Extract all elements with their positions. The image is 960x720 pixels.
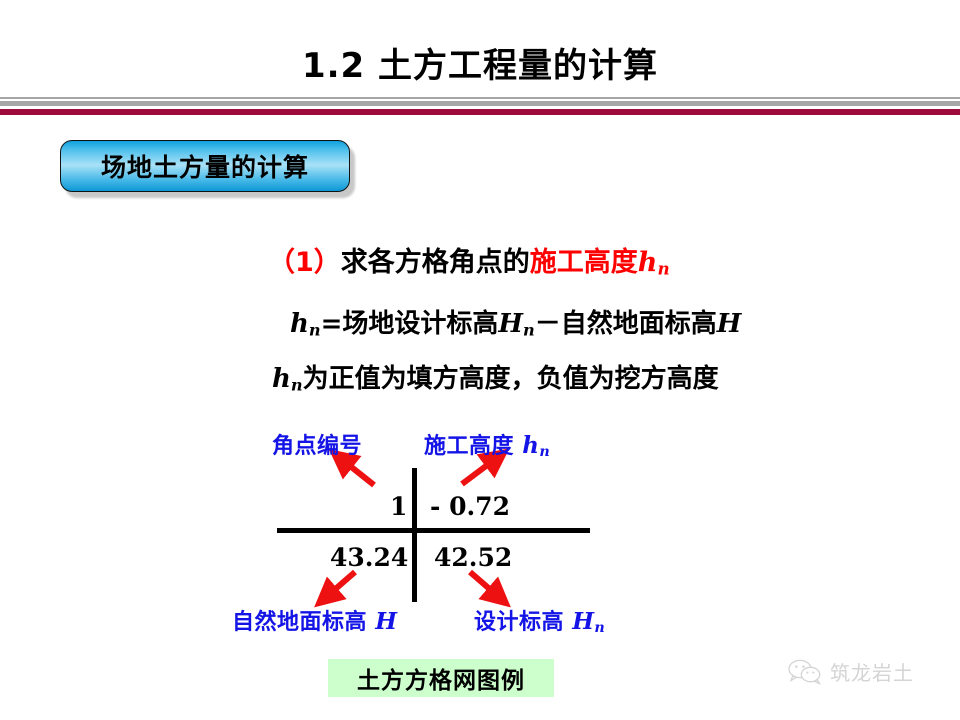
cell-corner-id: 1 [390, 492, 407, 521]
label-corner-number: 角点编号 [272, 428, 362, 460]
line2-var-Hn-sub: n [523, 321, 535, 340]
label-natural-elevation-text: 自然地面标高 [232, 610, 367, 635]
slide-canvas: 1.2 土方工程量的计算 场地土方量的计算 （1）求各方格角点的施工高度hn h… [0, 0, 960, 720]
line3-var-h-sub: n [291, 376, 303, 395]
line1-red-variable: hn [638, 247, 670, 278]
line2-minus-text: －自然地面标高 [535, 309, 717, 339]
label-de-var-base: H [572, 608, 594, 635]
page-title: 1.2 土方工程量的计算 [0, 38, 960, 87]
line2-var-h-base: h [290, 309, 309, 339]
watermark: 筑龙岩土 [788, 657, 914, 686]
grid-cell-vertical-line [412, 468, 417, 602]
line3-var-h: hn [272, 364, 303, 394]
divider-gray-thick [0, 101, 960, 106]
line2-var-H: H [717, 309, 742, 339]
label-de-var-sub: n [594, 620, 605, 636]
label-construction-height: 施工高度 hn [424, 428, 550, 460]
line1-black-text: 求各方格角点的 [341, 247, 530, 278]
cell-design-elevation: 42.52 [434, 543, 512, 572]
label-design-elevation: 设计标高 Hn [474, 604, 605, 636]
cell-construction-height: - 0.72 [430, 492, 510, 521]
line2-var-h: hn [290, 309, 321, 339]
section-chip-body: 场地土方量的计算 [60, 140, 350, 192]
body-line-3: hn为正值为填方高度，负值为挖方高度 [272, 358, 719, 395]
label-natural-elevation: 自然地面标高 H [232, 604, 397, 636]
line3-var-h-base: h [272, 364, 291, 394]
line2-var-h-sub: n [309, 321, 321, 340]
wechat-icon [788, 659, 822, 685]
label-natural-elevation-var: H [375, 608, 397, 635]
figure-caption-chip: 土方方格网图例 [328, 659, 554, 697]
label-design-elevation-text: 设计标高 [474, 610, 564, 635]
divider-gray-thin [0, 97, 960, 99]
divider-crimson [0, 109, 960, 115]
line1-red-term: 施工高度 [530, 247, 638, 278]
label-construction-height-var: hn [522, 432, 550, 459]
watermark-text: 筑龙岩土 [830, 657, 914, 686]
grid-cell-horizontal-line [277, 528, 590, 533]
line3-text: 为正值为填方高度，负值为挖方高度 [303, 364, 719, 394]
body-line-2: hn=场地设计标高Hn－自然地面标高H [290, 303, 741, 340]
line1-var-h: h [638, 247, 658, 278]
section-chip-label: 场地土方量的计算 [101, 148, 309, 184]
label-design-elevation-var: Hn [572, 608, 605, 635]
line2-var-Hn-base: H [498, 309, 523, 339]
line2-var-Hn: Hn [498, 309, 534, 339]
section-heading-chip: 场地土方量的计算 [60, 140, 350, 192]
line1-var-h-sub: n [657, 259, 669, 279]
figure-caption-label: 土方方格网图例 [357, 661, 525, 695]
label-ch-var-base: h [522, 432, 539, 459]
item-number: （1） [268, 247, 341, 278]
body-line-1: （1）求各方格角点的施工高度hn [268, 240, 670, 279]
line2-eq-text: =场地设计标高 [321, 309, 499, 339]
label-construction-height-text: 施工高度 [424, 434, 514, 459]
label-ch-var-sub: n [539, 444, 550, 460]
cell-natural-elevation: 43.24 [330, 543, 408, 572]
